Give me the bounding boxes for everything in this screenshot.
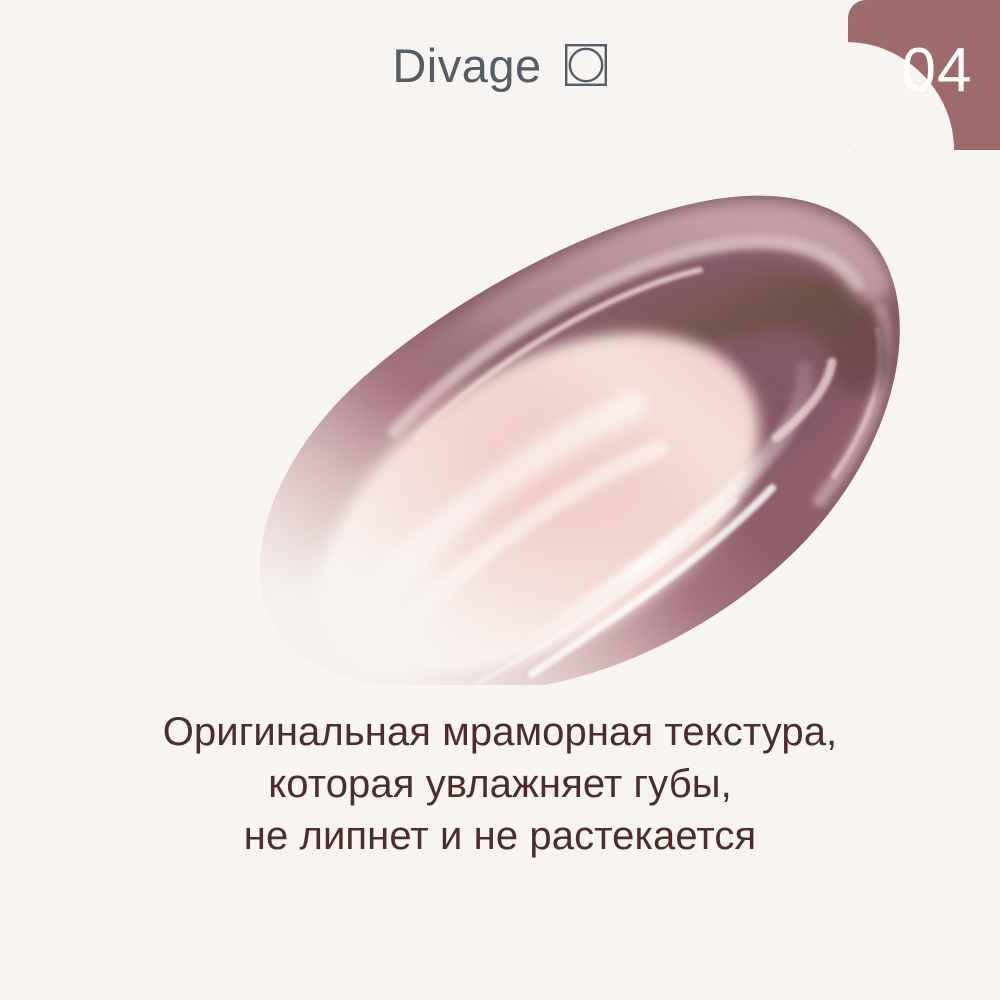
caption-line-2: которая увлажняет губы, (0, 758, 1000, 810)
brand-name: Divage (392, 42, 541, 89)
poster-canvas: Divage 04 (0, 0, 1000, 1000)
caption-line-1: Оригинальная мраморная текстура, (0, 706, 1000, 758)
lipgloss-swatch-illustration (0, 185, 1000, 685)
caption-block: Оригинальная мраморная текстура, которая… (0, 706, 1000, 862)
step-number-label: 04 (902, 40, 973, 102)
product-swatch (0, 185, 1000, 685)
caption-line-3: не липнет и не растекается (0, 810, 1000, 862)
square-with-inscribed-circle-icon (564, 43, 608, 87)
step-number-badge: 04 (848, 0, 1000, 150)
brand-mark (564, 43, 608, 87)
